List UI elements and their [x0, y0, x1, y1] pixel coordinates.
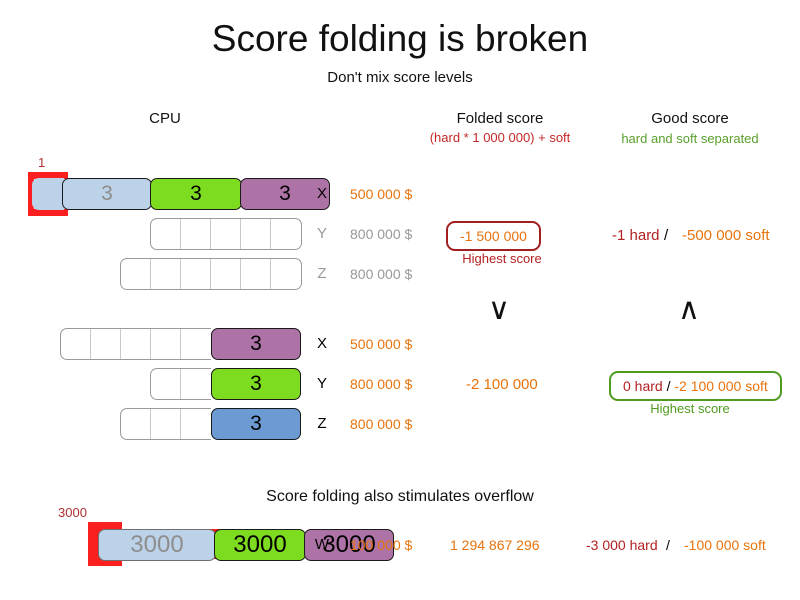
row-label-group1-x: X [314, 185, 330, 202]
bar-segment-label: 3 [190, 182, 202, 206]
bar-row-group2-x: 3 [60, 328, 301, 360]
page-title: Score folding is broken [0, 18, 800, 60]
bar-empty-cell [121, 259, 151, 289]
row-label-group2-z: Z [314, 415, 330, 432]
row-money-group2-y: 800 000 $ [350, 376, 412, 392]
page-subtitle: Don't mix score levels [0, 69, 800, 86]
bar-empty-cell [211, 259, 241, 289]
bar-segment-idle [32, 178, 64, 210]
bar-empty-cell [151, 329, 181, 359]
operator-or-icon: ∨ [488, 295, 510, 325]
bar-row-group1-y [150, 218, 302, 250]
bar-row-group1-z [120, 258, 302, 290]
bar-empty-cell [121, 409, 151, 439]
folded-score-value-overflow: 1 294 867 296 [450, 537, 540, 553]
good-score-separator-group2: / [667, 378, 671, 394]
bar-segment-label: 3000 [233, 531, 286, 559]
bar-empty-cell [271, 259, 301, 289]
bar-empty-cell [61, 329, 91, 359]
bar-segment-green: 3000 [214, 529, 306, 561]
folded-score-value-group1: -1 500 000 [460, 228, 527, 244]
good-score-hard-group2: 0 hard [623, 378, 663, 394]
bar-segment-label: 3 [250, 332, 262, 356]
bar-segment-label: 3 [250, 372, 262, 396]
bar-empty-cell [181, 409, 211, 439]
bar-row-group2-z: 3 [120, 408, 301, 440]
row-label-overflow-w: W [314, 536, 330, 553]
row-money-group2-x: 500 000 $ [350, 336, 412, 352]
bar-empty-run [150, 368, 211, 400]
bar-empty-cell [241, 259, 271, 289]
bar-empty-cell [121, 329, 151, 359]
bar-empty-cell [151, 219, 181, 249]
row-money-group1-y: 800 000 $ [350, 226, 412, 242]
bar-segment-green: 3 [150, 178, 242, 210]
good-score-separator-overflow: / [666, 537, 670, 553]
good-score-soft-overflow: -100 000 soft [684, 537, 766, 553]
bar-empty-cell [181, 329, 211, 359]
highlight-label-group1: 1 [38, 155, 45, 170]
bar-empty-cell [241, 219, 271, 249]
highlight-label-overflow: 3000 [58, 505, 87, 520]
bar-empty-cell [91, 329, 121, 359]
bar-empty-cell [181, 259, 211, 289]
good-score-box-group2: 0 hard / -2 100 000 soft [609, 371, 782, 401]
bar-segment-blue: 3 [211, 408, 301, 440]
bar-empty-cell [181, 369, 211, 399]
overflow-section-title: Score folding also stimulates overflow [0, 488, 800, 506]
bar-row-group1-x: 3 3 3 [32, 178, 330, 210]
row-label-group1-y: Y [314, 225, 330, 242]
folded-score-value-group2: -2 100 000 [466, 376, 538, 393]
bar-segment-label: 3 [250, 412, 262, 436]
row-label-group1-z: Z [314, 265, 330, 282]
good-score-hard-overflow: -3 000 hard [586, 537, 658, 553]
column-header-folded-formula: (hard * 1 000 000) + soft [400, 130, 600, 145]
bar-empty-cell [271, 219, 301, 249]
bar-empty-cell [151, 259, 181, 289]
good-score-soft-group2: -2 100 000 soft [674, 378, 767, 394]
bar-empty-cell [211, 219, 241, 249]
row-money-overflow-w: 100 000 $ [350, 537, 412, 553]
bar-segment-label: 3000 [130, 531, 183, 559]
row-money-group1-z: 800 000 $ [350, 266, 412, 282]
bar-empty-run [60, 328, 211, 360]
bar-segment-green: 3 [211, 368, 301, 400]
slide-canvas: Score folding is broken Don't mix score … [0, 0, 800, 600]
row-label-group2-x: X [314, 335, 330, 352]
operator-and-icon: ∧ [678, 295, 700, 325]
good-score-separator-group1: / [664, 227, 668, 244]
bar-segment-light-blue: 3000 [98, 529, 216, 561]
column-header-good-score: Good score [600, 110, 780, 127]
bar-empty-cell [181, 219, 211, 249]
bar-empty-run [120, 408, 211, 440]
row-money-group2-z: 800 000 $ [350, 416, 412, 432]
bar-empty-cell [151, 369, 181, 399]
bar-segment-light-blue: 3 [62, 178, 152, 210]
bar-segment-label: 3 [279, 182, 291, 206]
row-money-group1-x: 500 000 $ [350, 186, 412, 202]
column-header-good-formula: hard and soft separated [600, 131, 780, 146]
folded-score-box-group1: -1 500 000 [446, 221, 541, 251]
bar-segment-purple: 3 [211, 328, 301, 360]
column-header-cpu: CPU [105, 110, 225, 127]
good-score-hard-group1: -1 hard [612, 227, 660, 244]
row-label-group2-y: Y [314, 375, 330, 392]
good-score-soft-group1: -500 000 soft [682, 227, 770, 244]
folded-score-caption-group1: Highest score [452, 251, 552, 266]
bar-segment-label: 3 [101, 182, 113, 206]
column-header-folded-score: Folded score [400, 110, 600, 127]
bar-row-group2-y: 3 [150, 368, 301, 400]
bar-empty-cell [151, 409, 181, 439]
good-score-caption-group2: Highest score [609, 401, 771, 416]
